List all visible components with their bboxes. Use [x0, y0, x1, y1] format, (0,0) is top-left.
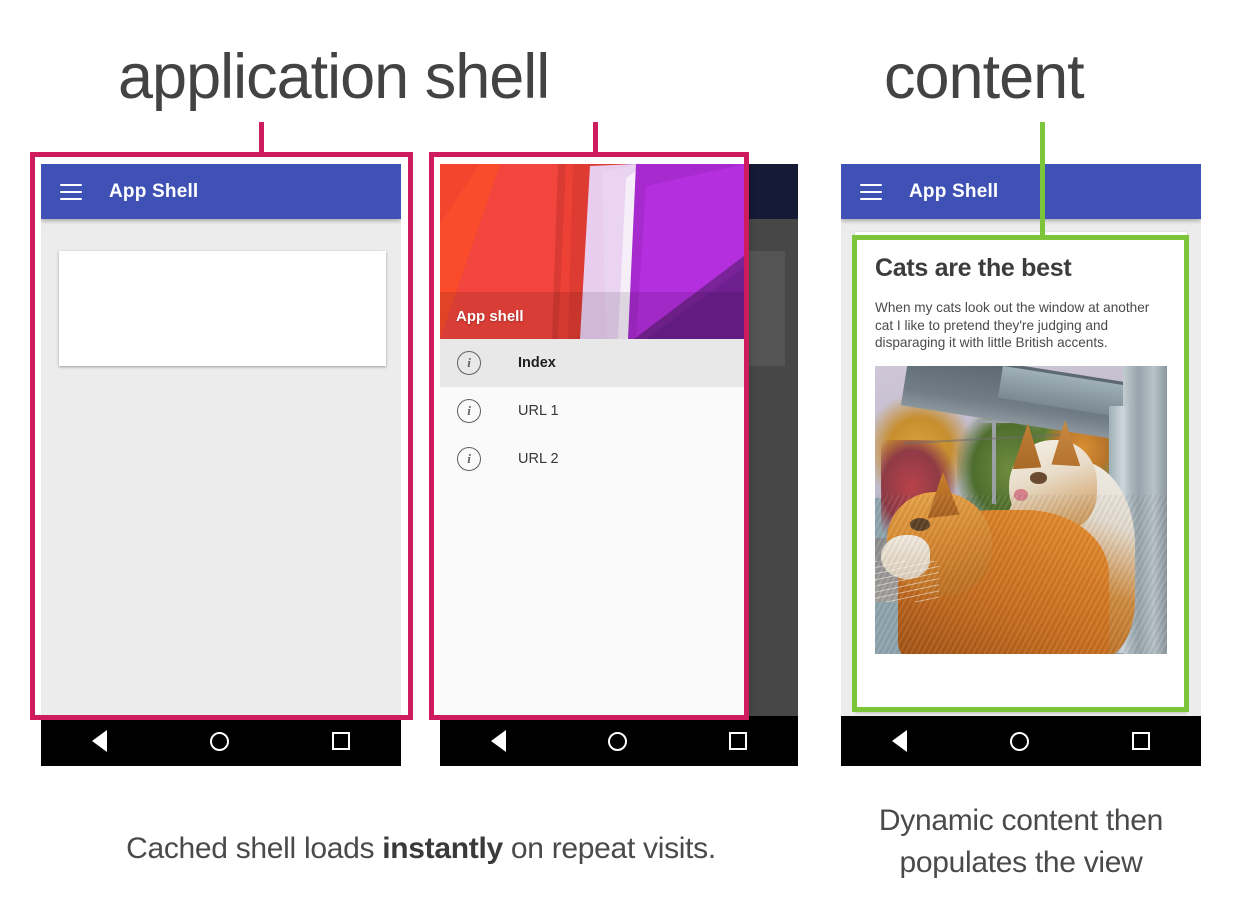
appbar-title: App Shell [909, 181, 998, 203]
recents-square-icon[interactable] [729, 732, 747, 750]
android-navbar [841, 716, 1201, 766]
home-circle-icon[interactable] [608, 732, 627, 751]
page-title-application-shell: application shell [118, 40, 549, 114]
phone-mockup-empty-shell: App Shell [41, 164, 401, 766]
home-circle-icon[interactable] [1010, 732, 1029, 751]
caption-left-emphasis: instantly [382, 832, 503, 865]
drawer-header-title: App shell [456, 308, 524, 325]
home-circle-icon[interactable] [210, 732, 229, 751]
phone-1-appbar: App Shell [41, 164, 401, 219]
drawer-item-label: URL 1 [518, 403, 559, 419]
info-circle-icon [457, 351, 481, 375]
empty-placeholder-card [59, 251, 386, 366]
phone-1-screen: App Shell [41, 164, 401, 716]
drawer-item-label: URL 2 [518, 451, 559, 467]
drawer-header: App shell [440, 164, 744, 339]
phone-mockup-content-loaded: App Shell Cats are the best When my cats… [841, 164, 1201, 766]
connector-line-content [1040, 122, 1045, 240]
recents-square-icon[interactable] [1132, 732, 1150, 750]
back-triangle-icon[interactable] [92, 730, 107, 752]
phone-3-appbar: App Shell [841, 164, 1201, 219]
caption-left-prefix: Cached shell loads [126, 832, 382, 865]
page-title-content: content [884, 40, 1084, 114]
content-card-body: When my cats look out the window at anot… [875, 299, 1167, 352]
hamburger-icon[interactable] [860, 184, 882, 200]
content-card: Cats are the best When my cats look out … [855, 232, 1187, 712]
appbar-title: App Shell [109, 181, 198, 203]
recents-square-icon[interactable] [332, 732, 350, 750]
drawer-item-index[interactable]: Index [440, 339, 744, 387]
caption-left-suffix: on repeat visits. [503, 832, 716, 865]
hamburger-icon[interactable] [60, 184, 82, 200]
navigation-drawer: App shell Index URL 1 URL 2 [440, 164, 744, 716]
caption-left: Cached shell loads instantly on repeat v… [41, 828, 801, 870]
back-triangle-icon[interactable] [892, 730, 907, 752]
connector-line-shell-left [259, 122, 264, 156]
phone-3-screen: App Shell Cats are the best When my cats… [841, 164, 1201, 716]
drawer-item-url-2[interactable]: URL 2 [440, 435, 744, 483]
android-navbar [41, 716, 401, 766]
phone-2-screen: App shell Index URL 1 URL 2 [440, 164, 798, 716]
two-orange-cats-looking-out-window-photo [875, 366, 1167, 654]
phone-mockup-drawer-open: App shell Index URL 1 URL 2 [440, 164, 798, 766]
back-triangle-icon[interactable] [491, 730, 506, 752]
info-circle-icon [457, 399, 481, 423]
drawer-item-label: Index [518, 355, 556, 371]
drawer-item-url-1[interactable]: URL 1 [440, 387, 744, 435]
connector-line-shell-right [593, 122, 598, 156]
caption-right: Dynamic content then populates the view [841, 800, 1201, 884]
android-navbar [440, 716, 798, 766]
info-circle-icon [457, 447, 481, 471]
content-card-title: Cats are the best [875, 254, 1167, 283]
